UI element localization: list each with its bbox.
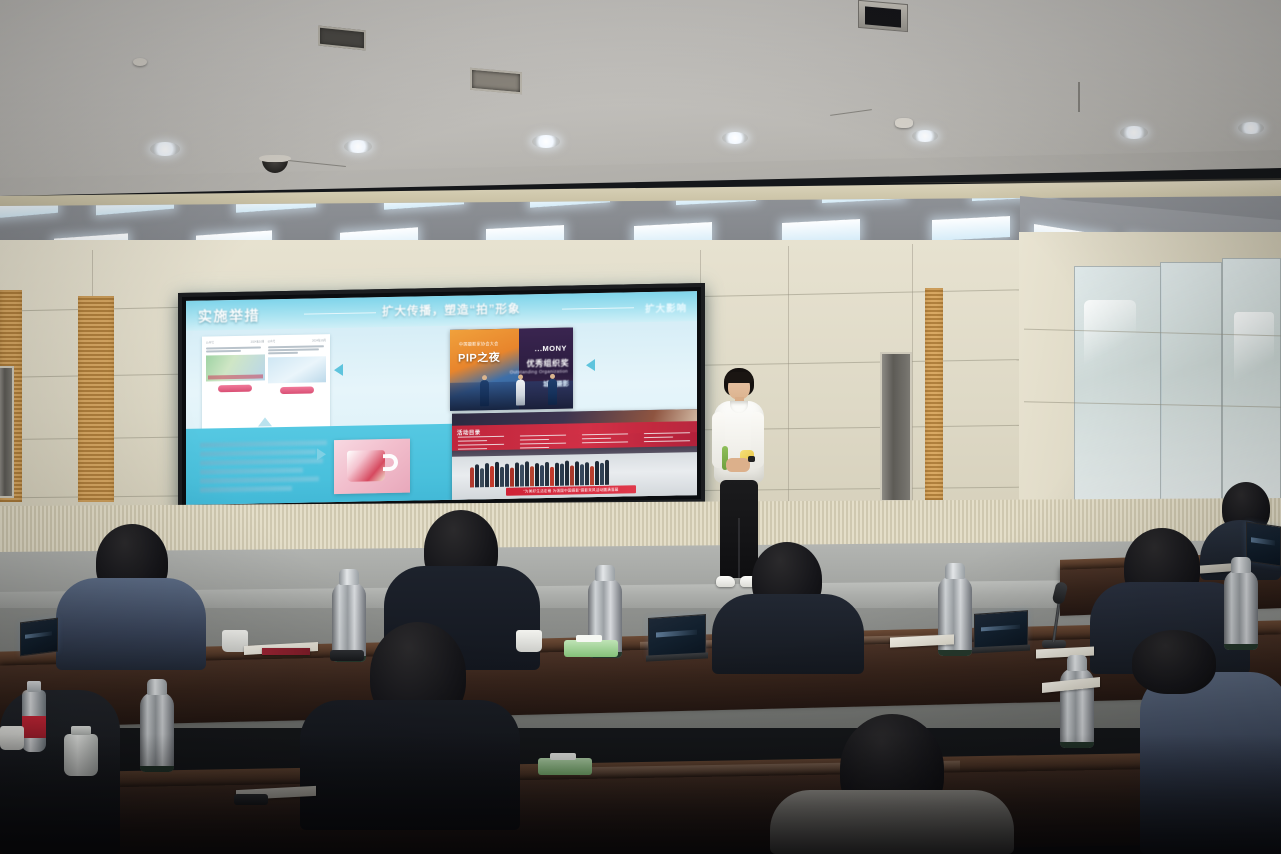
article-card-header: 公众号 2024年10月 (268, 338, 327, 343)
audience-laptop[interactable] (648, 614, 706, 658)
doorway[interactable] (0, 366, 14, 498)
audience-torso (712, 594, 864, 674)
pip-award-text: 优秀组织奖 (527, 358, 570, 370)
ceiling-panel-light (932, 216, 1010, 241)
ceiling-downlight-icon (150, 142, 180, 156)
presenter-trousers (720, 480, 758, 578)
presenter-left-shoe (716, 576, 735, 587)
ceiling-downlight-icon (912, 130, 938, 142)
audience-torso (56, 578, 206, 670)
poster-agenda-list (458, 432, 690, 452)
ceiling-downlight-icon (532, 135, 560, 148)
ceiling-downlight-icon (344, 140, 372, 153)
slide-title: 实施举措 (198, 305, 260, 326)
ceiling-cable (1078, 82, 1080, 112)
audience-torso (0, 690, 120, 854)
article-cta-button[interactable] (218, 384, 252, 392)
audience-laptop[interactable] (974, 610, 1028, 650)
wood-slat-strip (925, 288, 943, 500)
poster-agenda-column (458, 435, 504, 452)
article-card: 公众号 2024年10月 (206, 339, 265, 432)
article-source: 公众号 (268, 339, 276, 343)
ceiling-downlight-icon (1238, 122, 1264, 134)
paper-stack (262, 648, 310, 655)
smoke-detector-icon (133, 58, 147, 66)
article-text-lines (206, 346, 265, 352)
smartphone[interactable] (234, 794, 268, 805)
presenter-wristwatch (748, 456, 755, 462)
glass-reflection (1084, 300, 1136, 372)
article-thumbnail (206, 354, 265, 381)
glass-jar (64, 734, 98, 776)
paper-cup (516, 630, 542, 652)
audience-torso (1140, 672, 1281, 854)
slide-body-text (200, 440, 332, 505)
slide-arrow-left-icon (586, 359, 595, 371)
smoke-detector-icon (895, 118, 913, 128)
poster-agenda-column (520, 434, 566, 451)
group-photo-poster: 活动目录 (452, 409, 697, 504)
wall-panel-seam (912, 244, 913, 502)
pip-subtitle: 中国摄影家协会大会 (459, 341, 499, 348)
pip-ceremony-text: ...MONY (535, 344, 567, 354)
pip-night-poster: 中国摄影家协会大会 PIP之夜 ...MONY 优秀组织奖 Outstandin… (450, 327, 573, 410)
presenter-bangs (725, 372, 753, 383)
poster-red-band: 活动目录 (452, 421, 697, 451)
article-card: 公众号 2024年10月 (268, 338, 327, 431)
article-text-lines (268, 345, 327, 354)
pip-award-recipient (548, 379, 557, 405)
souvenir-mug-photo (334, 439, 410, 494)
hvac-vent-icon (470, 68, 522, 95)
article-cta-button[interactable] (280, 386, 314, 394)
slide-center-label: 扩大传播，塑造“拍”形象 (382, 300, 521, 319)
article-date: 2024年10月 (251, 339, 265, 343)
pip-award-presenter (516, 379, 525, 405)
audience-head (1132, 630, 1216, 694)
poster-agenda-column (582, 433, 628, 450)
bottle-cap (27, 681, 41, 692)
pip-title: PIP之夜 (458, 349, 500, 366)
ceiling-downlight-icon (722, 132, 748, 144)
mug-handle (383, 454, 398, 471)
slide-arrow-left-icon (334, 364, 343, 376)
tissue-box (564, 640, 618, 657)
pip-award-recipient (480, 380, 489, 406)
water-bottle (22, 690, 46, 752)
wood-slat-strip (78, 296, 114, 502)
article-thumbnail (268, 356, 327, 383)
jar-lid (71, 726, 91, 735)
glass-partition (1160, 262, 1222, 502)
poster-agenda-column (644, 432, 690, 449)
presenter-hands (726, 458, 750, 472)
audience-torso (770, 790, 1014, 854)
wall-panel-seam (788, 246, 789, 502)
tissue-box (538, 758, 592, 775)
audience-laptop[interactable] (20, 618, 58, 657)
smartphone[interactable] (330, 650, 364, 661)
doorway[interactable] (880, 352, 912, 502)
slide-right-label: 扩大影响 (645, 300, 687, 315)
audience-laptop[interactable] (1246, 522, 1281, 567)
article-date: 2024年10月 (312, 338, 326, 342)
ceiling-downlight-icon (1120, 126, 1148, 139)
thermos-flask (1224, 570, 1258, 650)
conference-hall-photo: 实施举措 扩大传播，塑造“拍”形象 扩大影响 公众号 2024年10月 (0, 0, 1281, 854)
ceiling-speaker-icon (858, 0, 908, 32)
glass-reflection (1234, 312, 1274, 398)
led-presentation-screen[interactable]: 实施举措 扩大传播，塑造“拍”形象 扩大影响 公众号 2024年10月 (178, 283, 705, 513)
bottle-label (22, 716, 46, 738)
mug-body (347, 450, 385, 482)
slide-arrow-right-icon (317, 448, 326, 460)
paper-cup (0, 726, 24, 750)
slide-arrow-up-icon (258, 417, 272, 426)
slide-canvas: 实施举措 扩大传播，塑造“拍”形象 扩大影响 公众号 2024年10月 (186, 291, 697, 505)
audience-torso (300, 700, 520, 830)
thermos-flask (140, 692, 174, 772)
poster-group-photo-people (470, 460, 609, 488)
article-source: 公众号 (206, 340, 214, 344)
article-card-header: 公众号 2024年10月 (206, 339, 265, 344)
